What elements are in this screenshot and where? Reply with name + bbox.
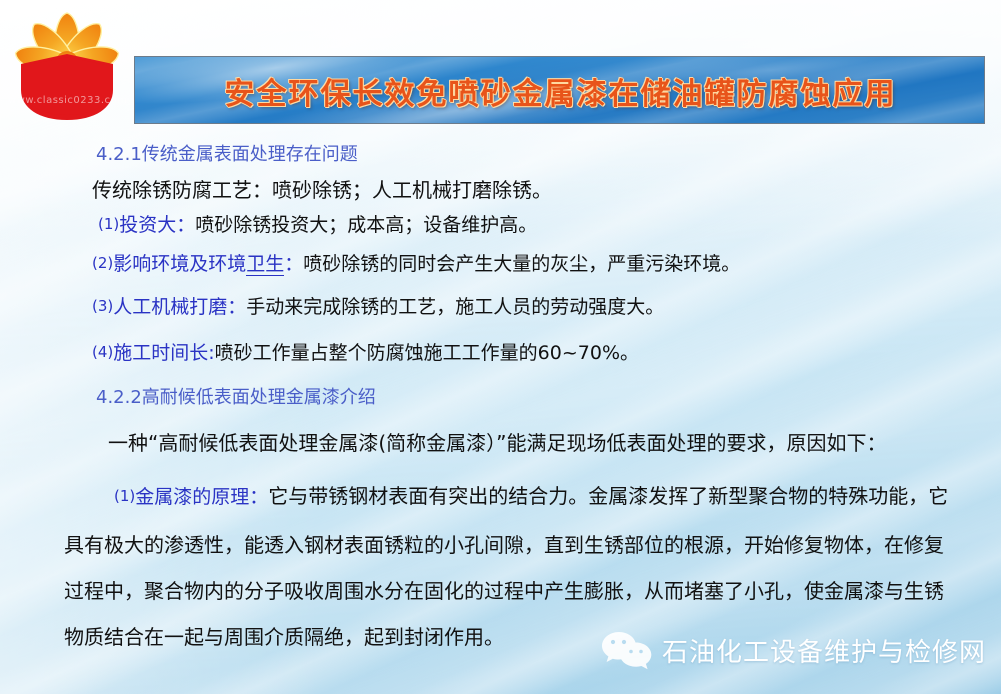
list-item-422-1-line4: 物质结合在一起与周围介质隔绝，起到封闭作用。: [64, 621, 504, 650]
list-item-separator: ：: [284, 253, 303, 275]
paragraph-line: 物质结合在一起与周围介质隔绝，起到封闭作用。: [64, 625, 504, 649]
section-422-intro-text: 一种“高耐候低表面处理金属漆(简称金属漆）”能满足现场低表面处理的要求，原因如下…: [108, 431, 887, 455]
paragraph-line: 具有极大的渗透性，能透入钢材表面锈粒的小孔间隙，直到生锈部位的根源，开始修复物体…: [64, 533, 944, 557]
list-item-line-1: 它与带锈钢材表面有突出的结合力。金属漆发挥了新型聚合物的特殊功能，它: [268, 484, 948, 508]
list-item-422-1-line3: 过程中，聚合物内的分子吸收周围水分在固化的过程中产生膨胀，从而堵塞了小孔，使金属…: [64, 575, 944, 604]
title-banner: 安全环保长效免喷砂金属漆在储油罐防腐蚀应用: [134, 56, 985, 124]
section-421-intro-text: 传统除锈防腐工艺：喷砂除锈；人工机械打磨除锈。: [92, 178, 552, 202]
list-item-421-3: (3)人工机械打磨：手动来完成除锈的工艺，施工人员的劳动强度大。: [92, 292, 664, 319]
list-item-text: 喷砂除锈的同时会产生大量的灰尘，严重污染环境。: [303, 253, 740, 275]
list-item-text: 喷砂除锈投资大；成本高；设备维护高。: [195, 214, 537, 236]
section-422-intro: 一种“高耐候低表面处理金属漆(简称金属漆）”能满足现场低表面处理的要求，原因如下…: [108, 427, 887, 456]
list-item-term: 人工机械打磨: [113, 296, 227, 318]
list-item-421-2: (2)影响环境及环境卫生：喷砂除锈的同时会产生大量的灰尘，严重污染环境。: [92, 249, 740, 276]
list-item-separator: ：: [249, 486, 268, 508]
paragraph-line: 过程中，聚合物内的分子吸收周围水分在固化的过程中产生膨胀，从而堵塞了小孔，使金属…: [64, 579, 944, 603]
list-item-term: 影响环境及环境: [113, 253, 246, 275]
list-item-text: 喷砂工作量占整个防腐蚀施工工作量的60~70%。: [215, 342, 639, 364]
list-item-number: (2): [92, 254, 113, 272]
section-421-intro: 传统除锈防腐工艺：喷砂除锈；人工机械打磨除锈。: [92, 174, 552, 203]
list-item-separator: ：: [227, 296, 246, 318]
watermark-text: 石油化工设备维护与检修网: [662, 632, 986, 669]
section-heading-421: 4.2.1传统金属表面处理存在问题: [96, 140, 358, 166]
list-item-text: 手动来完成除锈的工艺，施工人员的劳动强度大。: [246, 296, 664, 318]
list-item-term: 施工时间长: [113, 342, 208, 364]
list-item-421-1: (1)投资大：喷砂除锈投资大；成本高；设备维护高。: [98, 210, 537, 237]
list-item-term-underline: 卫生: [246, 253, 284, 276]
list-item-number: (4): [92, 343, 113, 361]
petrochina-logo: [4, 6, 130, 126]
slide-title: 安全环保长效免喷砂金属漆在储油罐防腐蚀应用: [135, 57, 985, 124]
wechat-watermark: 石油化工设备维护与检修网: [600, 630, 986, 670]
wechat-icon: [600, 630, 652, 670]
list-item-number: (3): [92, 297, 113, 315]
section-heading-422: 4.2.2高耐候低表面处理金属漆介绍: [96, 383, 376, 409]
list-item-number: (1): [98, 215, 119, 233]
list-item-separator: ：: [176, 214, 195, 236]
list-item-term: 金属漆的原理: [135, 486, 249, 508]
list-item-422-1: (1)金属漆的原理：它与带锈钢材表面有突出的结合力。金属漆发挥了新型聚合物的特殊…: [114, 480, 948, 509]
list-item-term: 投资大: [119, 214, 176, 236]
list-item-number: (1): [114, 487, 135, 505]
list-item-421-4: (4)施工时间长:喷砂工作量占整个防腐蚀施工工作量的60~70%。: [92, 338, 639, 365]
list-item-422-1-line2: 具有极大的渗透性，能透入钢材表面锈粒的小孔间隙，直到生锈部位的根源，开始修复物体…: [64, 529, 944, 558]
slide-canvas: www.classic0233.com 安全环保长效免喷砂金属漆在储油罐防腐蚀应…: [0, 0, 1001, 694]
